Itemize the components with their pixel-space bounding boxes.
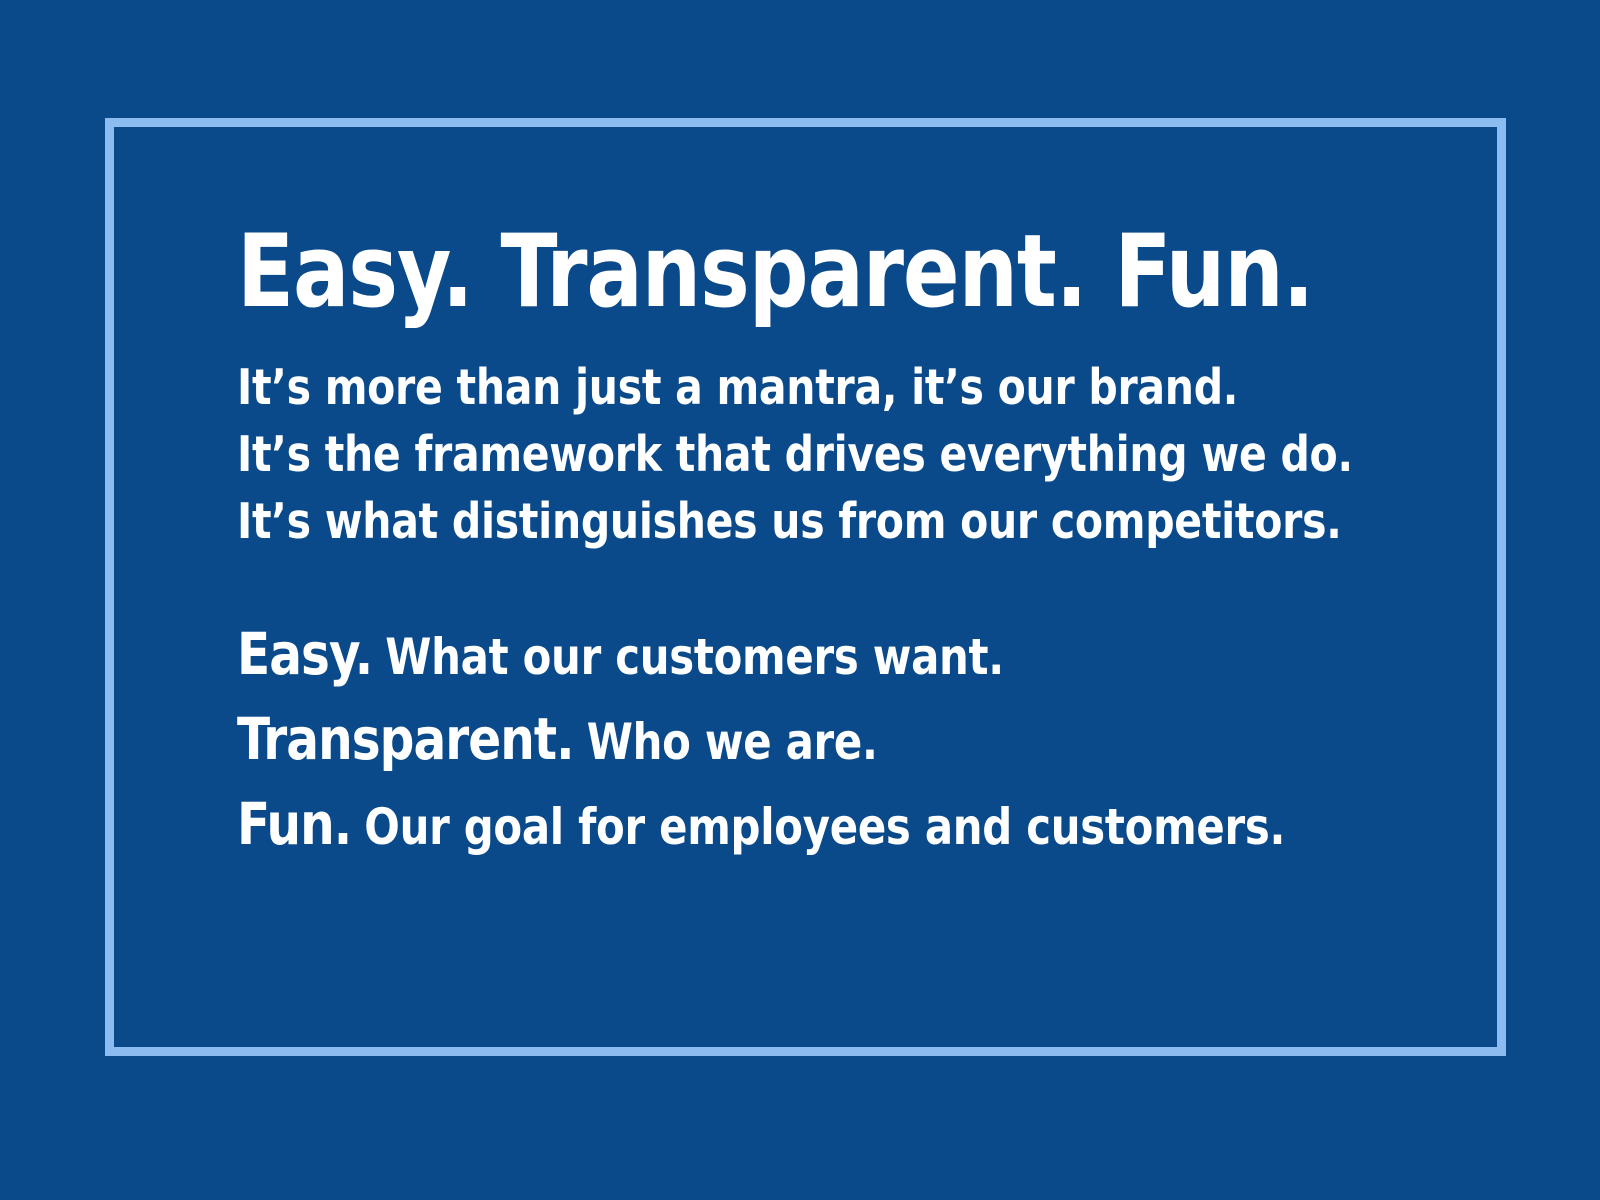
pillar-list: Easy. What our customers want. Transpare… <box>237 613 1397 868</box>
intro-line-1: It’s more than just a mantra, it’s our b… <box>237 354 1316 421</box>
slide-content: Easy. Transparent. Fun. It’s more than j… <box>237 214 1397 868</box>
page-title: Easy. Transparent. Fun. <box>237 214 1304 328</box>
pillar-description-easy: What our customers want. <box>385 628 1004 686</box>
pillar-keyword-transparent: Transparent. <box>237 705 574 773</box>
pillar-keyword-fun: Fun. <box>237 790 351 858</box>
intro-line-3: It’s what distinguishes us from our comp… <box>237 488 1316 555</box>
pillar-item-transparent: Transparent. Who we are. <box>237 698 1316 783</box>
intro-paragraph: It’s more than just a mantra, it’s our b… <box>237 354 1316 555</box>
pillar-keyword-easy: Easy. <box>237 620 372 688</box>
pillar-item-easy: Easy. What our customers want. <box>237 613 1316 698</box>
pillar-description-fun: Our goal for employees and customers. <box>364 798 1285 856</box>
pillar-item-fun: Fun. Our goal for employees and customer… <box>237 783 1316 868</box>
pillar-description-transparent: Who we are. <box>587 713 878 771</box>
slide-canvas: Easy. Transparent. Fun. It’s more than j… <box>0 0 1600 1200</box>
intro-line-2: It’s the framework that drives everythin… <box>237 421 1316 488</box>
